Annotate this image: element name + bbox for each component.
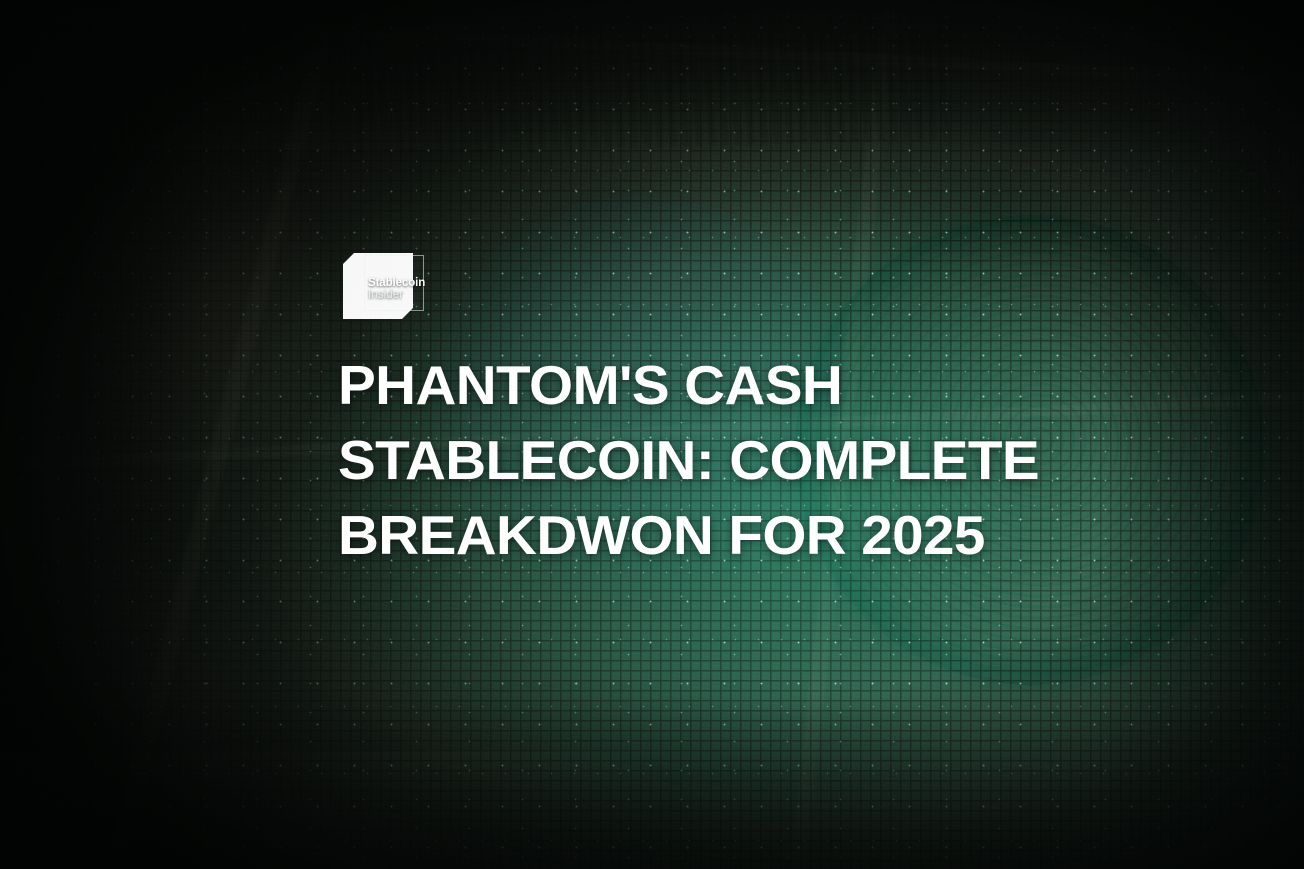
- headline-line-2: STABLECOIN: COMPLETE: [338, 423, 1018, 498]
- page-title: PHANTOM'S CASH STABLECOIN: COMPLETE BREA…: [338, 348, 998, 573]
- headline-line-1: PHANTOM'S CASH: [338, 348, 1018, 423]
- logo-brand-name: Stablecoin: [368, 277, 448, 289]
- logo-brand-subtitle: Insider: [368, 289, 448, 301]
- hero-content: Stablecoin Insider PHANTOM'S CASH STABLE…: [338, 0, 1038, 869]
- hero-banner: Stablecoin Insider PHANTOM'S CASH STABLE…: [0, 0, 1304, 869]
- brand-logo[interactable]: Stablecoin Insider: [343, 253, 428, 321]
- logo-wordmark: Stablecoin Insider: [368, 277, 448, 302]
- headline-line-3: BREAKDWON FOR 2025: [338, 498, 1018, 573]
